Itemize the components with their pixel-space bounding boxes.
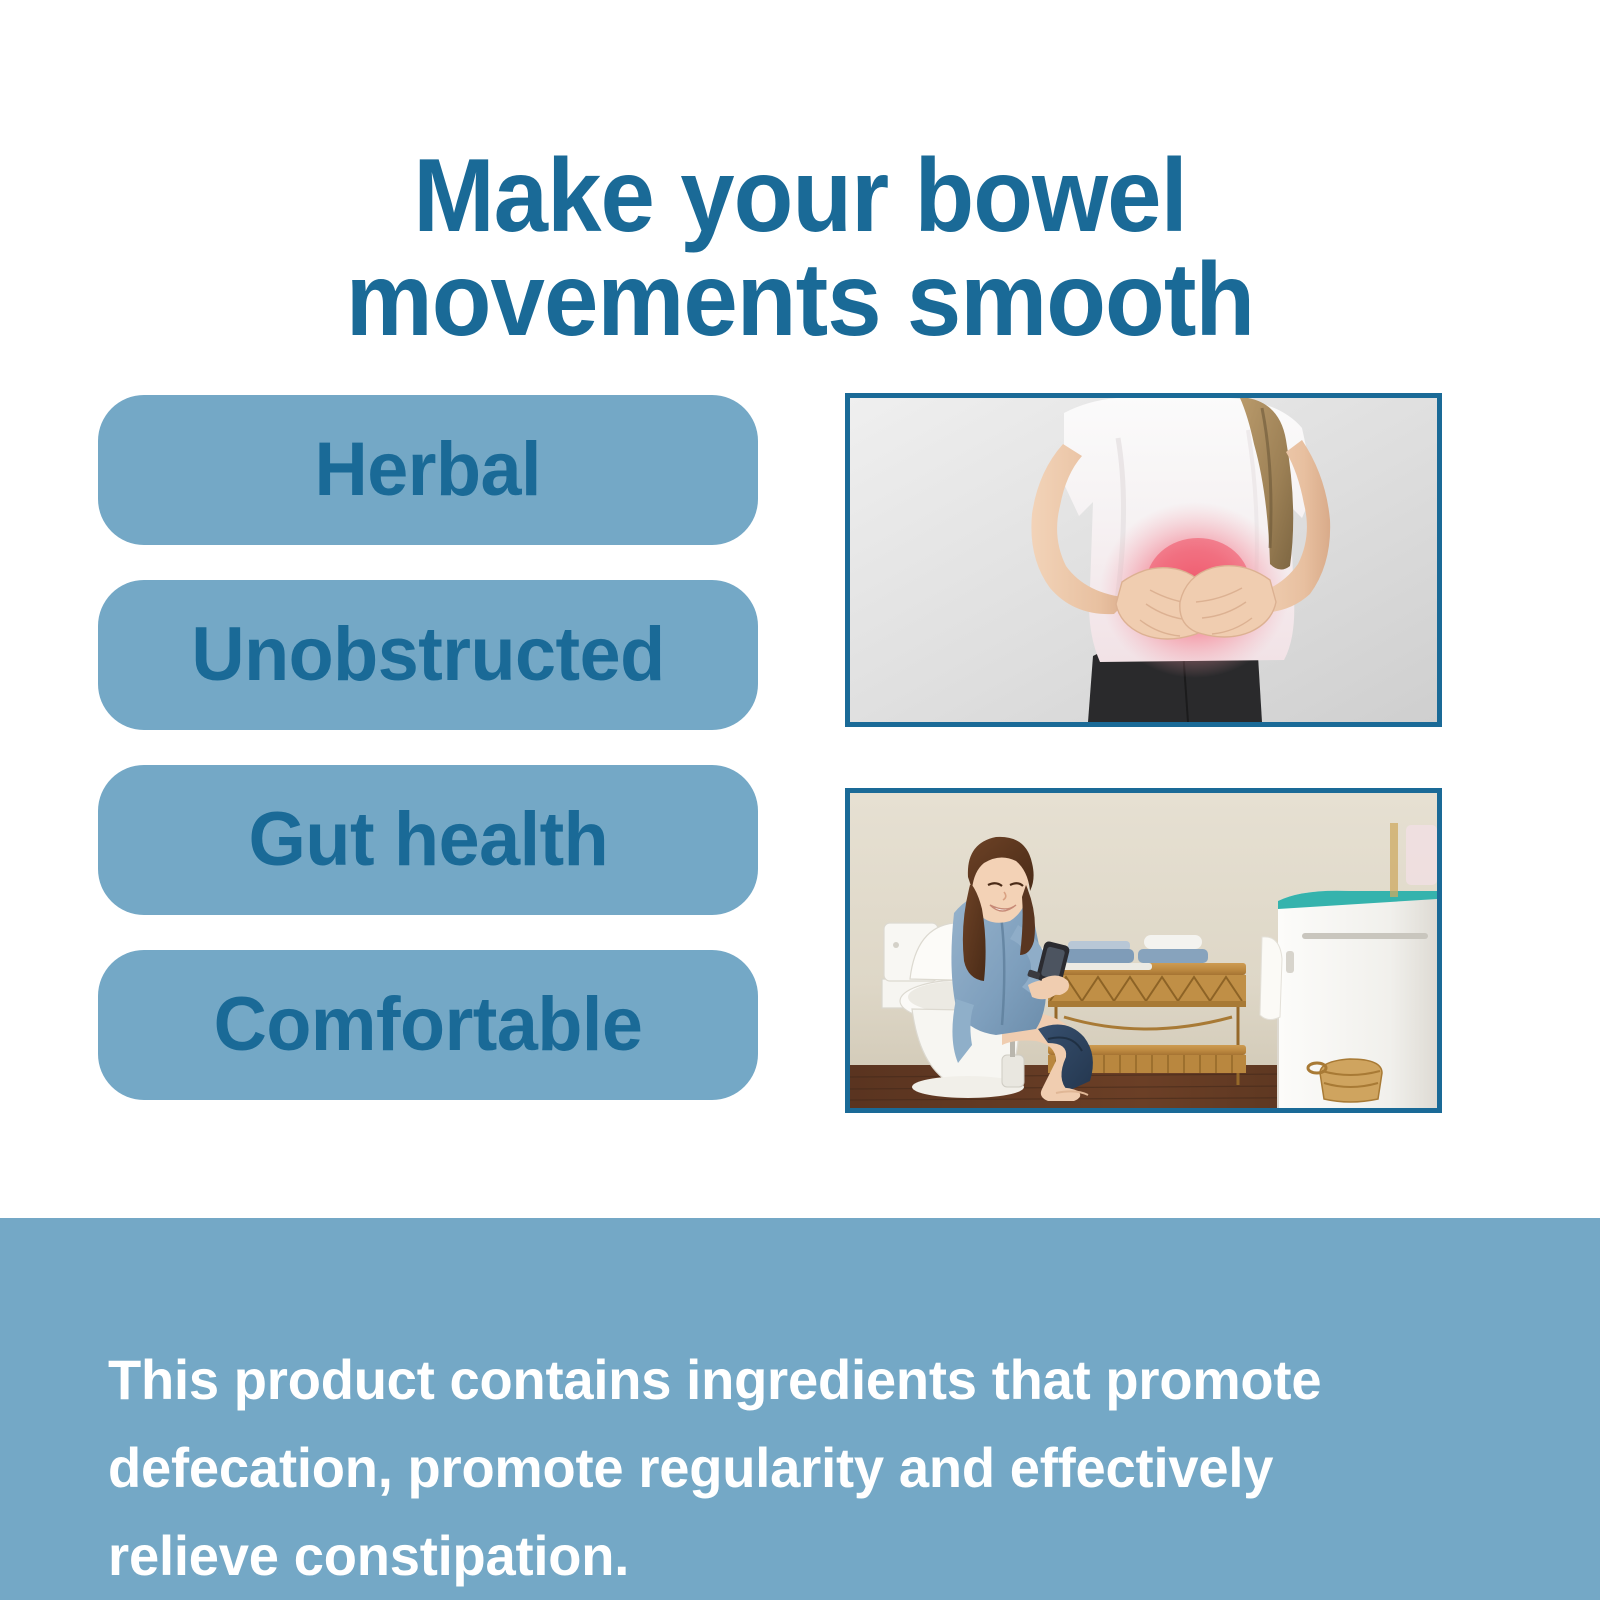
abdominal-pain-illustration (850, 398, 1437, 722)
feature-pill-label: Herbal (315, 430, 542, 510)
abdominal-pain-photo (845, 393, 1442, 727)
feature-pill-comfortable: Comfortable (98, 950, 758, 1100)
banner-description: This product contains ingredients that p… (108, 1336, 1456, 1600)
feature-pill-label: Comfortable (214, 985, 643, 1065)
feature-pill-label: Gut health (248, 800, 608, 880)
abdominal-pain-photo-image (850, 398, 1437, 722)
page-title-line-2: movements smooth (48, 248, 1552, 352)
feature-pill-herbal: Herbal (98, 395, 758, 545)
woman-on-toilet-photo-image (850, 793, 1437, 1108)
page-title-line-1: Make your bowel (48, 144, 1552, 248)
feature-pill-unobstructed: Unobstructed (98, 580, 758, 730)
page-title: Make your bowel movements smooth (48, 144, 1552, 352)
feature-pill-gut-health: Gut health (98, 765, 758, 915)
infographic-page: Make your bowel movements smooth Herbal … (0, 0, 1600, 1600)
bathroom-scene-illustration (850, 793, 1437, 1108)
feature-pill-list: Herbal Unobstructed Gut health Comfortab… (98, 395, 758, 1100)
bottom-banner: This product contains ingredients that p… (0, 1218, 1600, 1600)
feature-pill-label: Unobstructed (191, 615, 664, 695)
woman-on-toilet-photo (845, 788, 1442, 1113)
